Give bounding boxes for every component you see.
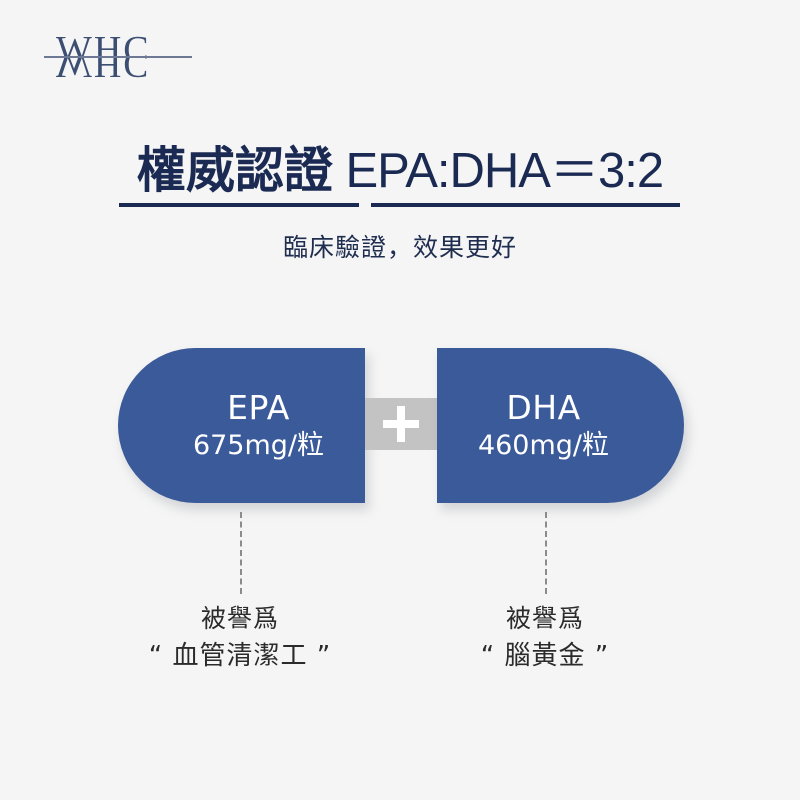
capsule-epa-dose: 675mg/粒	[193, 428, 324, 464]
page-title-underline-left	[119, 203, 359, 207]
page-title-wrap: 權威認證 EPA:DHA＝3:2	[0, 143, 800, 199]
plus-icon-vertical	[397, 406, 405, 442]
brand-logo-wordmark: WHC	[56, 26, 174, 57]
brand-logo: WHC WHC	[56, 26, 174, 88]
page-title-cn: 權威認證	[137, 142, 333, 199]
plus-connector	[365, 398, 437, 450]
page-subtitle: 臨床驗證，效果更好	[0, 231, 800, 265]
dashed-leader-left	[240, 512, 242, 594]
footnote-epa-line1: 被譽爲	[90, 602, 390, 636]
dashed-leader-right	[545, 512, 547, 594]
footnote-dha: 被譽爲 “ 腦黃金 ”	[395, 602, 695, 676]
footnote-dha-line2: “ 腦黃金 ”	[395, 636, 695, 676]
capsule-dha-dose: 460mg/粒	[478, 428, 609, 464]
capsule-dha-name: DHA	[506, 388, 580, 428]
page-title: 權威認證 EPA:DHA＝3:2	[137, 143, 663, 199]
capsule-diagram: EPA 675mg/粒 DHA 460mg/粒	[0, 348, 800, 508]
brand-logo-reflection-text: WHC	[56, 57, 151, 79]
page-title-en: EPA:DHA＝3:2	[333, 144, 663, 198]
footnote-dha-line1: 被譽爲	[395, 602, 695, 636]
capsule-epa-name: EPA	[227, 388, 290, 428]
page-title-underline	[119, 203, 680, 207]
footnote-epa: 被譽爲 “ 血管清潔工 ”	[90, 602, 390, 676]
brand-logo-wordmark-text: WHC	[56, 35, 151, 57]
page-title-underline-right	[371, 203, 680, 207]
capsule-epa: EPA 675mg/粒	[118, 348, 365, 503]
infographic-page: WHC WHC 權威認證 EPA:DHA＝3:2 臨床驗證，效果更好 EPA 6…	[0, 0, 800, 800]
brand-logo-reflection: WHC	[56, 57, 174, 88]
brand-logo-rule	[44, 56, 192, 58]
capsule-dha: DHA 460mg/粒	[437, 348, 684, 503]
footnote-epa-line2: “ 血管清潔工 ”	[90, 636, 390, 676]
